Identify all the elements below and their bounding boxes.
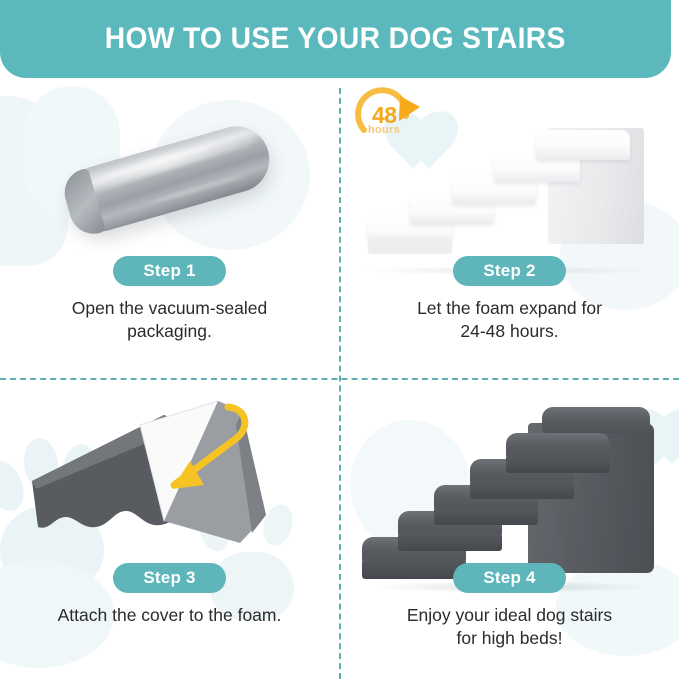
stairs-tread-6 bbox=[542, 407, 650, 433]
stairs-riser-3 bbox=[434, 507, 538, 525]
foam-riser-1 bbox=[368, 238, 452, 254]
step-card-4: Step 4 Enjoy your ideal dog stairs for h… bbox=[340, 379, 679, 679]
cover-over-foam-svg bbox=[14, 385, 324, 585]
step-card-1: Step 1 Open the vacuum-sealed packaging. bbox=[0, 78, 339, 378]
step-3-caption: Step 3 Attach the cover to the foam. bbox=[0, 563, 339, 627]
step-2-description: Let the foam expand for 24-48 hours. bbox=[340, 297, 679, 344]
step-card-2: 48 hours Step 2 Let the foam expand for … bbox=[340, 78, 679, 378]
finished-stairs-illustration bbox=[354, 379, 669, 589]
step-4-description: Enjoy your ideal dog stairs for high bed… bbox=[340, 604, 679, 651]
divider-vertical bbox=[339, 88, 341, 679]
step-3-badge: Step 3 bbox=[113, 563, 225, 593]
stairs-riser-5 bbox=[506, 455, 610, 473]
stairs-riser-2 bbox=[398, 533, 502, 551]
stairs-riser-4 bbox=[470, 481, 574, 499]
step-card-3: Step 3 Attach the cover to the foam. bbox=[0, 379, 339, 679]
step-2-badge: Step 2 bbox=[453, 256, 565, 286]
vacuum-roll-illustration bbox=[56, 108, 286, 258]
header-banner: HOW TO USE YOUR DOG STAIRS bbox=[0, 0, 671, 78]
step-2-caption: Step 2 Let the foam expand for 24-48 hou… bbox=[340, 256, 679, 344]
step-4-badge: Step 4 bbox=[453, 563, 565, 593]
step-3-description: Attach the cover to the foam. bbox=[0, 604, 339, 627]
step-1-description: Open the vacuum-sealed packaging. bbox=[0, 297, 339, 344]
foam-step-5 bbox=[536, 130, 630, 160]
step-4-caption: Step 4 Enjoy your ideal dog stairs for h… bbox=[340, 563, 679, 651]
step-1-caption: Step 1 Open the vacuum-sealed packaging. bbox=[0, 256, 339, 344]
cover-attach-illustration bbox=[14, 385, 324, 585]
page-title: HOW TO USE YOUR DOG STAIRS bbox=[105, 22, 566, 56]
infographic-root: HOW TO USE YOUR DOG STAIRS bbox=[0, 0, 679, 679]
step-1-badge: Step 1 bbox=[113, 256, 225, 286]
divider-horizontal bbox=[0, 378, 679, 380]
white-foam-stairs-illustration bbox=[358, 92, 668, 272]
